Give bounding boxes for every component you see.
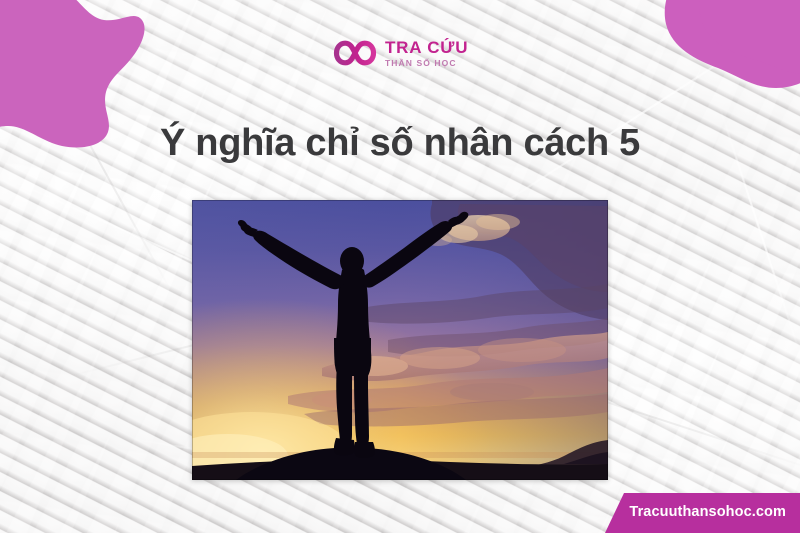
website-banner: Tracuuthansohoc.com — [560, 493, 800, 533]
hero-photo — [192, 200, 608, 480]
infinity-icon — [333, 38, 377, 68]
logo-text-block: TRA CỨU THẦN SỐ HỌC — [385, 38, 468, 68]
poster-canvas: TRA CỨU THẦN SỐ HỌC Ý nghĩa chỉ số nhân … — [0, 0, 800, 533]
site-logo[interactable]: TRA CỨU THẦN SỐ HỌC — [333, 38, 468, 68]
website-url-label: Tracuuthansohoc.com — [629, 504, 786, 520]
top-right-blob-decoration — [636, 0, 800, 123]
logo-name-primary: TRA CỨU — [385, 39, 468, 56]
page-title: Ý nghĩa chỉ số nhân cách 5 — [0, 122, 800, 165]
logo-name-secondary: THẦN SỐ HỌC — [385, 59, 468, 68]
